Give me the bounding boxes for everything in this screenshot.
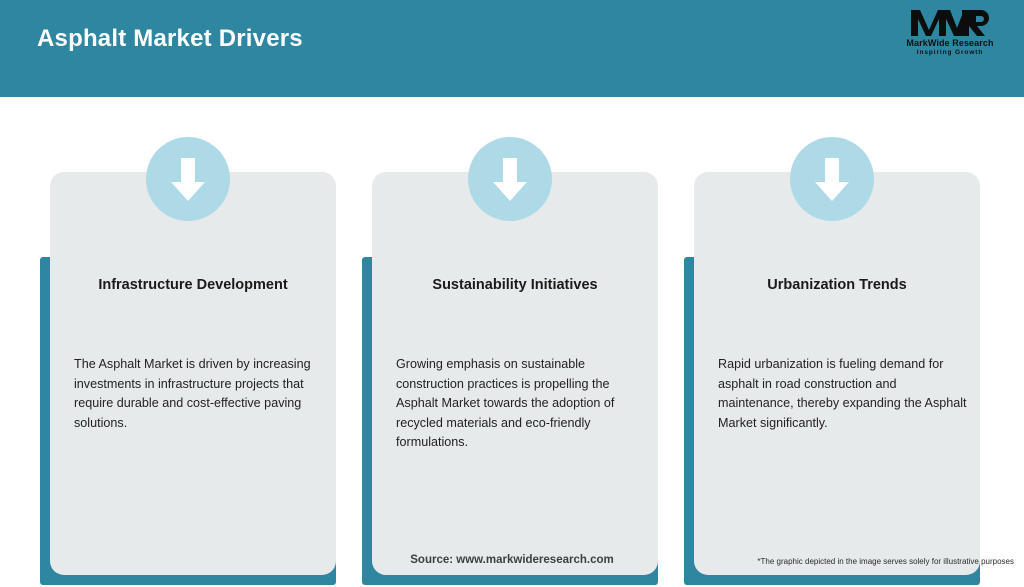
header-band: Asphalt Market Drivers MarkWide Research…: [0, 0, 1024, 97]
driver-card-3: Urbanization Trends Rapid urbanization i…: [684, 137, 980, 587]
driver-card-2: Sustainability Initiatives Growing empha…: [362, 137, 658, 587]
card-body-text: The Asphalt Market is driven by increasi…: [74, 355, 326, 433]
drivers-card-row: Infrastructure Development The Asphalt M…: [0, 97, 1024, 576]
card-body-text: Rapid urbanization is fueling demand for…: [718, 355, 970, 433]
logo-company-name: MarkWide Research: [894, 39, 1006, 48]
down-arrow-icon: [146, 137, 230, 221]
card-heading: Sustainability Initiatives: [372, 277, 658, 293]
disclaimer-note: *The graphic depicted in the image serve…: [757, 557, 1014, 566]
logo-tagline: Inspiring Growth: [894, 50, 1006, 57]
down-arrow-icon: [790, 137, 874, 221]
card-heading: Infrastructure Development: [50, 277, 336, 293]
driver-card-1: Infrastructure Development The Asphalt M…: [40, 137, 336, 587]
card-heading: Urbanization Trends: [694, 277, 980, 293]
card-body-text: Growing emphasis on sustainable construc…: [396, 355, 648, 453]
page-title: Asphalt Market Drivers: [37, 25, 303, 53]
down-arrow-icon: [468, 137, 552, 221]
brand-logo: MarkWide Research Inspiring Growth: [894, 8, 1006, 57]
mwr-logo-icon: [894, 8, 1006, 38]
